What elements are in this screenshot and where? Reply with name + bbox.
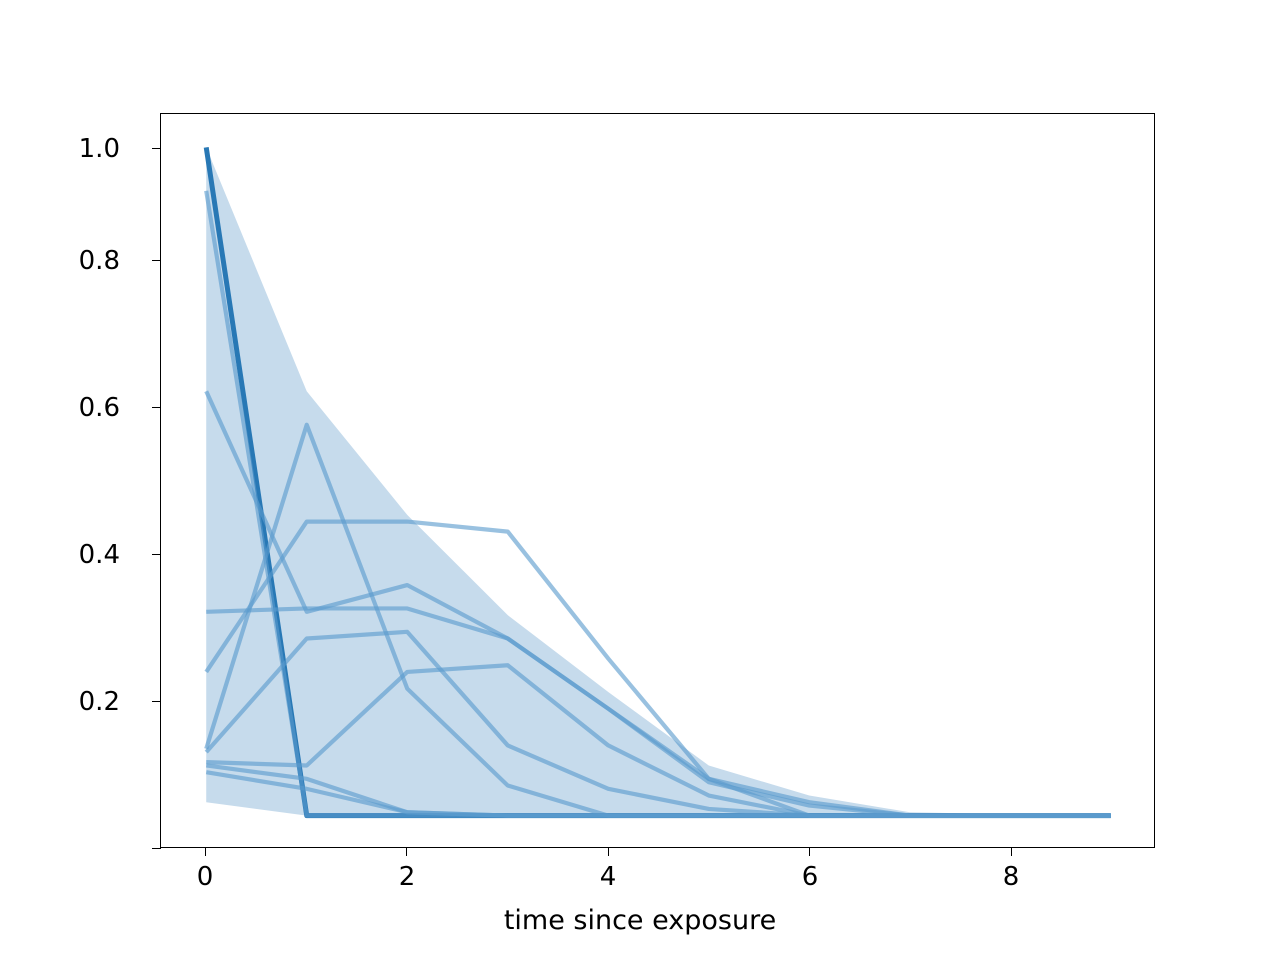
band-polygon [206,147,1111,815]
plot-area [160,113,1155,848]
figure-canvas: 0.0 0.2 0.4 0.6 0.8 1.0 0 2 4 6 8 time s… [0,0,1280,960]
xtick-label-2: 4 [578,864,638,890]
ytick-label-2: 0.4 [79,542,120,568]
xtick-label-4: 8 [981,864,1041,890]
ytick-mark-0 [152,848,161,849]
xtick-label-1: 2 [377,864,437,890]
ytick-label-4: 0.8 [79,248,120,274]
confidence-band [206,147,1111,815]
x-axis-label: time since exposure [0,905,1280,936]
xtick-label-0: 0 [175,864,235,890]
plot-svg [161,114,1156,849]
ytick-label-3: 0.6 [79,395,120,421]
ytick-label-1: 0.2 [79,689,120,715]
ytick-label-5: 1.0 [79,136,120,162]
xtick-label-3: 6 [780,864,840,890]
